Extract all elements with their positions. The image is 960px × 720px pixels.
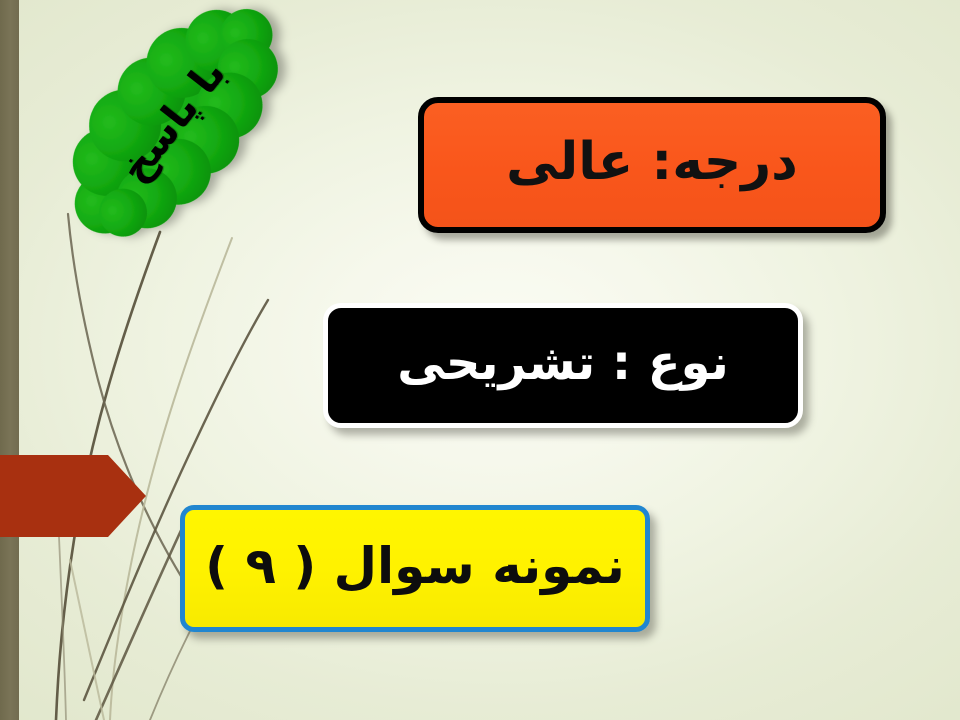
type-box[interactable]: نوع : تشریحی bbox=[323, 303, 803, 428]
red-arrow-shape bbox=[0, 455, 146, 537]
type-box-label: نوع : تشریحی bbox=[397, 339, 728, 393]
sample-question-label: نمونه سوال ( ۹ ) bbox=[205, 541, 625, 597]
grade-box-label: درجه: عالی bbox=[506, 136, 798, 194]
grade-box[interactable]: درجه: عالی bbox=[418, 97, 886, 233]
with-answer-badge: با پاسخ bbox=[28, 0, 318, 256]
slide-canvas: با پاسخ درجه: عالی نوع : تشریحی نمونه سو… bbox=[0, 0, 960, 720]
sample-question-box[interactable]: نمونه سوال ( ۹ ) bbox=[180, 505, 650, 632]
